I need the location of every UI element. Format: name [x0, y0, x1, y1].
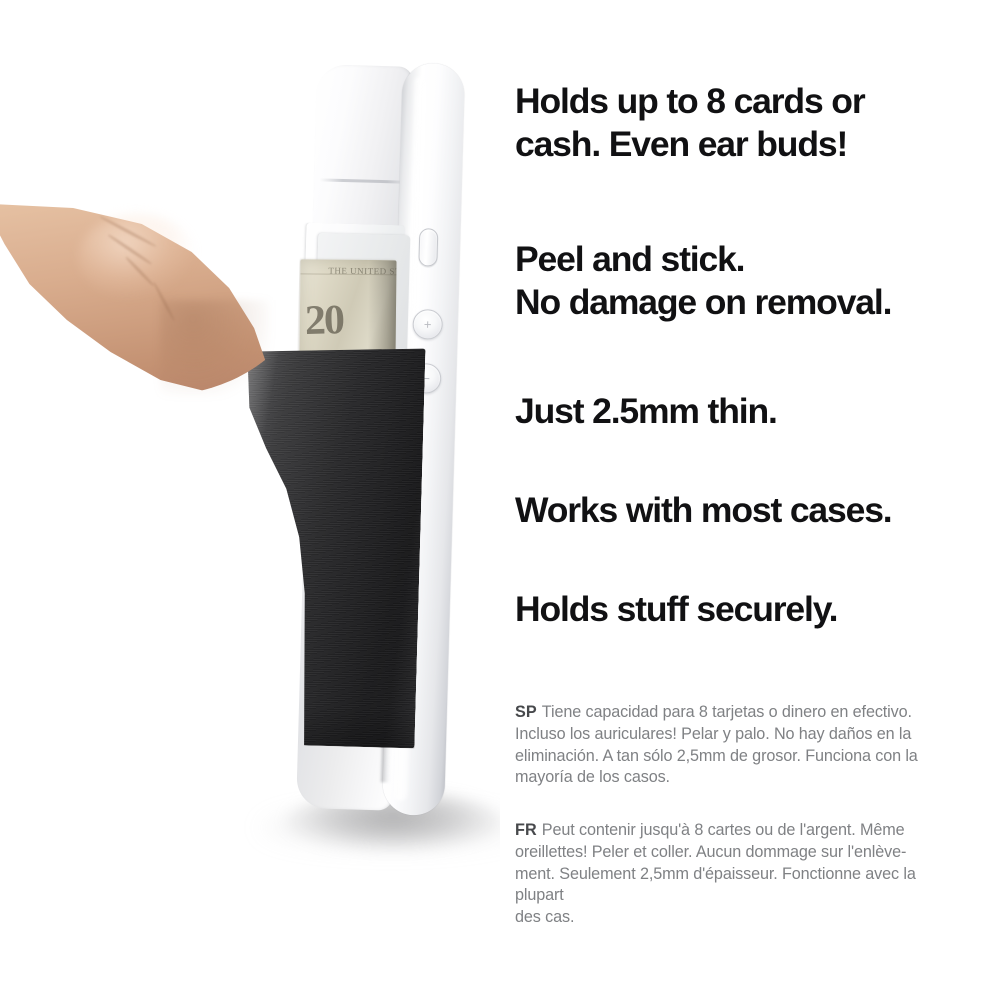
fineprint-line: eliminación. A tan sólo 2,5mm de grosor.… [515, 746, 995, 768]
volume-up-icon: + [424, 318, 432, 331]
language-tag-sp: SP [515, 703, 537, 721]
fineprint-line: FRPeut contenir jusqu'à 8 cartes ou de l… [515, 820, 995, 842]
headline-line: Peel and stick. [515, 238, 1000, 281]
headline-line: No damage on removal. [515, 281, 1000, 324]
feature-headline: Peel and stick. No damage on removal. [515, 238, 1000, 324]
product-photo: + − THE UNITED STATES TWENTY DOLLARS 20 [0, 0, 500, 1000]
product-feature-sheet: + − THE UNITED STATES TWENTY DOLLARS 20 [0, 0, 1000, 1000]
fineprint-text: Tiene capacidad para 8 tarjetas o dinero… [542, 703, 912, 721]
headline-line: Holds stuff securely. [515, 588, 1000, 631]
fineprint-spanish: SPTiene capacidad para 8 tarjetas o dine… [515, 702, 995, 789]
fineprint-line: ment. Seulement 2,5mm d'épaisseur. Fonct… [515, 864, 995, 886]
copy-column: Holds up to 8 cards or cash. Even ear bu… [515, 0, 1000, 1000]
thumb-highlight [78, 214, 196, 300]
headline-line: Holds up to 8 cards or [515, 80, 1000, 123]
fineprint-line: mayoría de los casos. [515, 767, 995, 789]
feature-headline: Holds up to 8 cards or cash. Even ear bu… [515, 80, 1000, 166]
language-tag-fr: FR [515, 821, 537, 839]
feature-headline: Holds stuff securely. [515, 588, 1000, 631]
feature-headline: Just 2.5mm thin. [515, 390, 1000, 433]
fineprint-line: plupart [515, 885, 995, 907]
elastic-card-wallet [236, 344, 425, 749]
fineprint-text: Peut contenir jusqu'à 8 cartes ou de l'a… [542, 821, 905, 839]
fineprint-line: des cas. [515, 907, 995, 929]
banknote-denomination: 20 [304, 299, 343, 342]
feature-headline: Works with most cases. [515, 489, 1000, 532]
headline-line: Just 2.5mm thin. [515, 390, 1000, 433]
mute-switch-button [418, 228, 438, 267]
fineprint-french: FRPeut contenir jusqu'à 8 cartes ou de l… [515, 820, 995, 929]
fineprint-line: Incluso los auriculares! Pelar y palo. N… [515, 724, 995, 746]
wallet-fabric [236, 344, 425, 749]
hand-thumb [0, 196, 304, 396]
headline-line: cash. Even ear buds! [515, 123, 1000, 166]
fineprint-line: SPTiene capacidad para 8 tarjetas o dine… [515, 702, 995, 724]
thumb-shadow [160, 300, 270, 396]
headline-line: Works with most cases. [515, 489, 1000, 532]
fineprint-line: oreillettes! Peler et coller. Aucun domm… [515, 842, 995, 864]
